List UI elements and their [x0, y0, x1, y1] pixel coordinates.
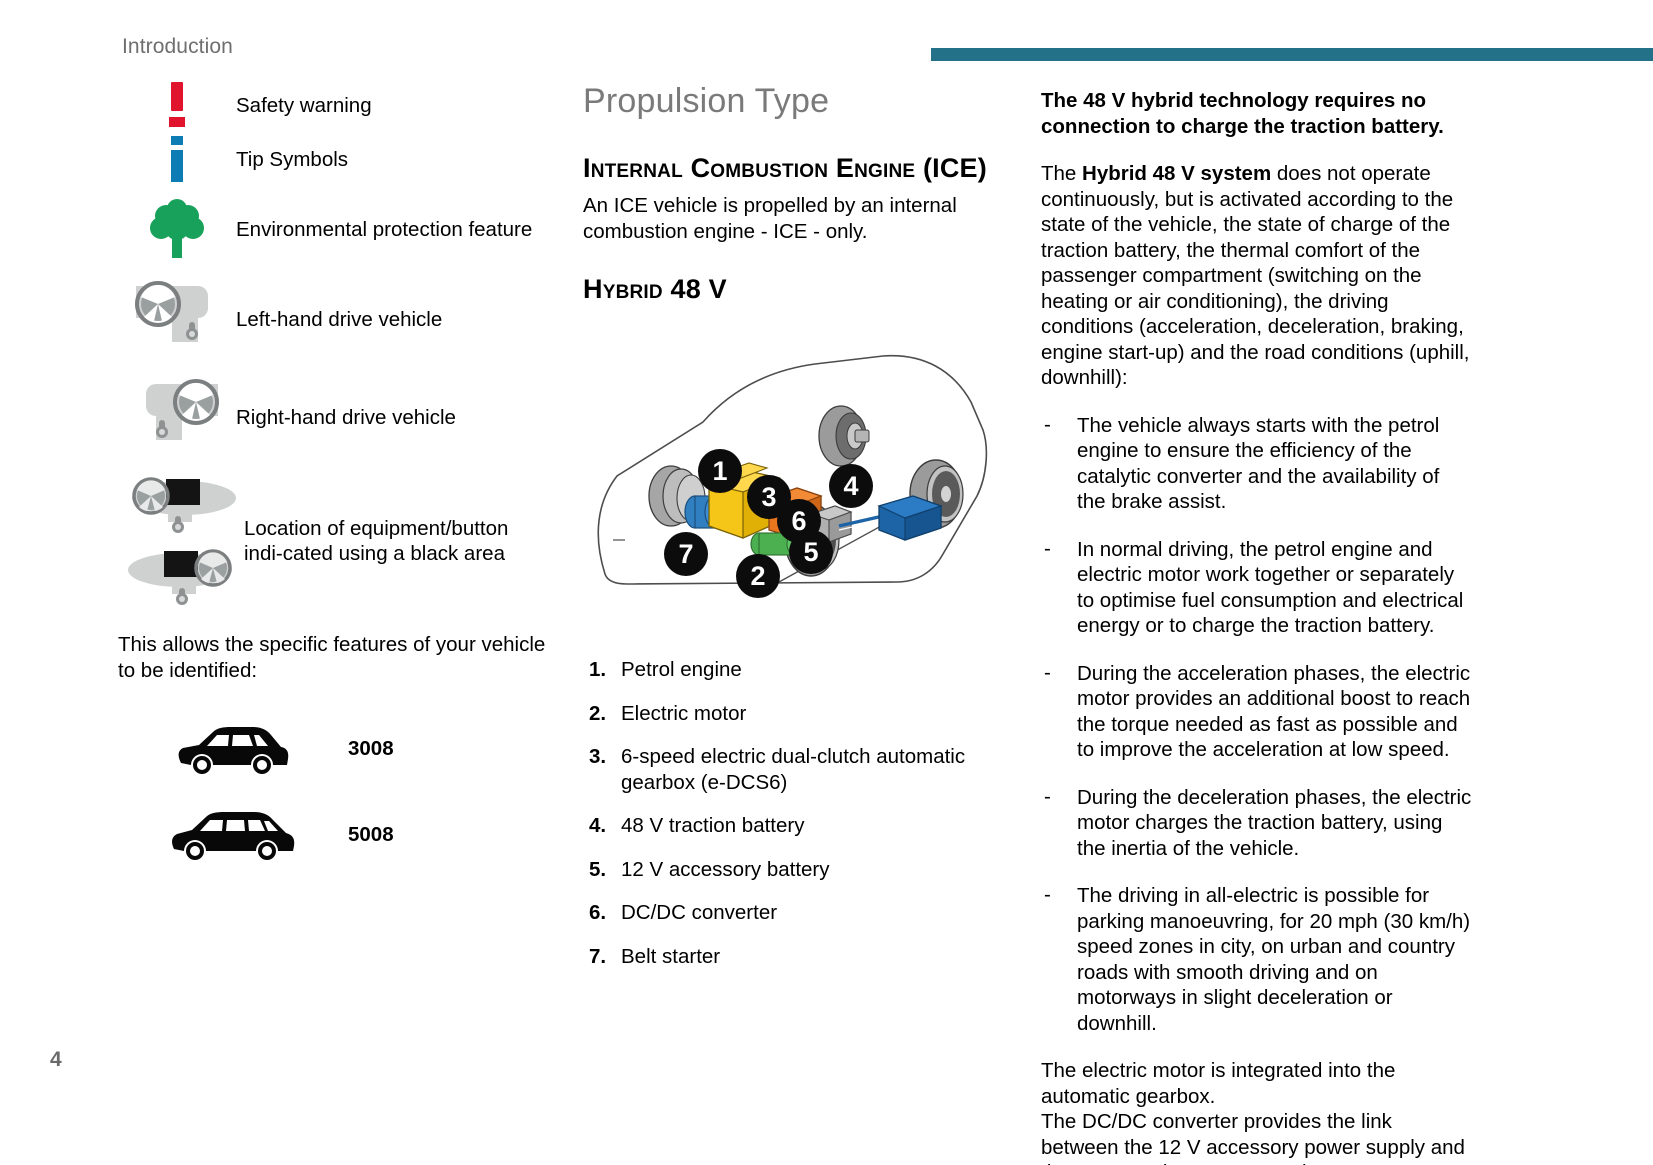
- bullet-dash: -: [1044, 660, 1051, 686]
- svg-text:3: 3: [761, 482, 776, 512]
- svg-text:5: 5: [803, 537, 818, 567]
- list-item: 6.DC/DC converter: [583, 900, 993, 926]
- legend-label: Left-hand drive vehicle: [236, 307, 442, 332]
- callout-5: 5: [789, 530, 833, 574]
- svg-text:7: 7: [678, 539, 693, 569]
- list-item-number: 3.: [589, 744, 606, 770]
- list-item: 2.Electric motor: [583, 701, 993, 727]
- list-item-number: 4.: [589, 813, 606, 839]
- dcdc-converter-note: The DC/DC converter provides the link be…: [1041, 1109, 1473, 1165]
- list-item: -The driving in all-electric is possible…: [1041, 883, 1473, 1036]
- hybrid-description-column: The 48 V hybrid technology requires no c…: [1041, 88, 1473, 1165]
- ice-description: An ICE vehicle is propelled by an intern…: [583, 193, 993, 244]
- list-item-number: 6.: [589, 900, 606, 926]
- callout-7: 7: [664, 532, 708, 576]
- ice-heading: Internal Combustion Engine (ICE): [583, 149, 993, 187]
- callout-1: 1: [698, 449, 742, 493]
- legend-row: Location of equipment/button indi-cated …: [118, 476, 558, 614]
- bullet-dash: -: [1044, 412, 1051, 438]
- hybrid-48v-powertrain-diagram: 1 3 6 4 5: [583, 326, 993, 621]
- list-item-label: During the deceleration phases, the elec…: [1077, 786, 1471, 860]
- legend-row: Left-hand drive vehicle: [118, 278, 558, 360]
- list-item-label: During the acceleration phases, the elec…: [1077, 662, 1470, 762]
- list-item: 5.12 V accessory battery: [583, 857, 993, 883]
- intro-bold: Hybrid 48 V system: [1082, 162, 1271, 185]
- hybrid-intro-paragraph: The Hybrid 48 V system does not operate …: [1041, 161, 1473, 391]
- intro-lead: The: [1041, 162, 1082, 185]
- car-mpv-5008-icon: [118, 809, 348, 861]
- model-name: 5008: [348, 823, 394, 847]
- list-item-label: In normal driving, the petrol engine and…: [1077, 538, 1463, 638]
- list-item-label: Belt starter: [621, 945, 720, 968]
- identification-intro-text: This allows the specific features of you…: [118, 632, 558, 683]
- hybrid-behaviour-list: -The vehicle always starts with the petr…: [1041, 413, 1473, 1037]
- steering-wheel-left-icon: [118, 280, 236, 358]
- hybrid-heading: Hybrid 48 V: [583, 270, 993, 308]
- dashboard-black-area-icon: [118, 476, 244, 614]
- manual-page: Introduction Safety warning Tip Symbols: [0, 0, 1653, 1165]
- intro-rest: does not operate continuously, but is ac…: [1041, 162, 1470, 389]
- list-item-label: 48 V traction battery: [621, 814, 804, 837]
- electric-motor-note: The electric motor is integrated into th…: [1041, 1058, 1473, 1109]
- list-item: 3.6-speed electric dual-clutch automatic…: [583, 744, 993, 795]
- list-item-number: 7.: [589, 944, 606, 970]
- list-item: 4.48 V traction battery: [583, 813, 993, 839]
- car-suv-3008-icon: [118, 723, 348, 775]
- svg-text:1: 1: [712, 456, 727, 486]
- list-item-label: The vehicle always starts with the petro…: [1077, 414, 1439, 514]
- bullet-dash: -: [1044, 784, 1051, 810]
- svg-text:4: 4: [843, 471, 858, 501]
- page-number: 4: [50, 1048, 62, 1072]
- legend-row: Safety warning: [118, 82, 558, 128]
- callout-2: 2: [736, 554, 780, 598]
- legend-row: Environmental protection feature: [118, 196, 558, 262]
- running-head: Introduction: [122, 35, 233, 59]
- model-name: 3008: [348, 737, 394, 761]
- information-i-icon: [118, 136, 236, 182]
- propulsion-column: Propulsion Type Internal Combustion Engi…: [583, 82, 993, 987]
- steering-wheel-right-icon: [118, 378, 236, 456]
- list-item-label: DC/DC converter: [621, 901, 777, 924]
- component-list: 1.Petrol engine 2.Electric motor 3.6-spe…: [583, 657, 993, 969]
- bullet-dash: -: [1044, 882, 1051, 908]
- exclamation-mark-icon: [118, 82, 236, 128]
- header-rule: [931, 48, 1653, 61]
- list-item-number: 2.: [589, 701, 606, 727]
- legend-label: Right-hand drive vehicle: [236, 405, 456, 430]
- list-item: -During the acceleration phases, the ele…: [1041, 661, 1473, 763]
- bullet-dash: -: [1044, 536, 1051, 562]
- list-item: -In normal driving, the petrol engine an…: [1041, 537, 1473, 639]
- list-item-label: 12 V accessory battery: [621, 858, 830, 881]
- list-item: 7.Belt starter: [583, 944, 993, 970]
- list-item-number: 1.: [589, 657, 606, 683]
- callout-4: 4: [829, 464, 873, 508]
- list-item: -The vehicle always starts with the petr…: [1041, 413, 1473, 515]
- page-title: Propulsion Type: [583, 82, 993, 121]
- legend-column: Safety warning Tip Symbols: [118, 82, 558, 861]
- legend-label: Location of equipment/button indi-cated …: [244, 516, 544, 566]
- model-row: 3008: [118, 723, 558, 775]
- tree-icon: [118, 198, 236, 260]
- list-item-label: 6-speed electric dual-clutch automatic g…: [621, 745, 965, 794]
- model-row: 5008: [118, 809, 558, 861]
- list-item-number: 5.: [589, 857, 606, 883]
- hybrid-notice: The 48 V hybrid technology requires no c…: [1041, 88, 1473, 139]
- legend-label: Environmental protection feature: [236, 217, 532, 242]
- legend-label: Tip Symbols: [236, 147, 348, 172]
- list-item-label: The driving in all-electric is possible …: [1077, 884, 1470, 1035]
- legend-row: Tip Symbols: [118, 136, 558, 182]
- list-item-label: Electric motor: [621, 702, 746, 725]
- svg-text:2: 2: [750, 561, 765, 591]
- list-item: -During the deceleration phases, the ele…: [1041, 785, 1473, 862]
- list-item-label: Petrol engine: [621, 658, 742, 681]
- list-item: 1.Petrol engine: [583, 657, 993, 683]
- legend-label: Safety warning: [236, 93, 372, 118]
- legend-row: Right-hand drive vehicle: [118, 376, 558, 458]
